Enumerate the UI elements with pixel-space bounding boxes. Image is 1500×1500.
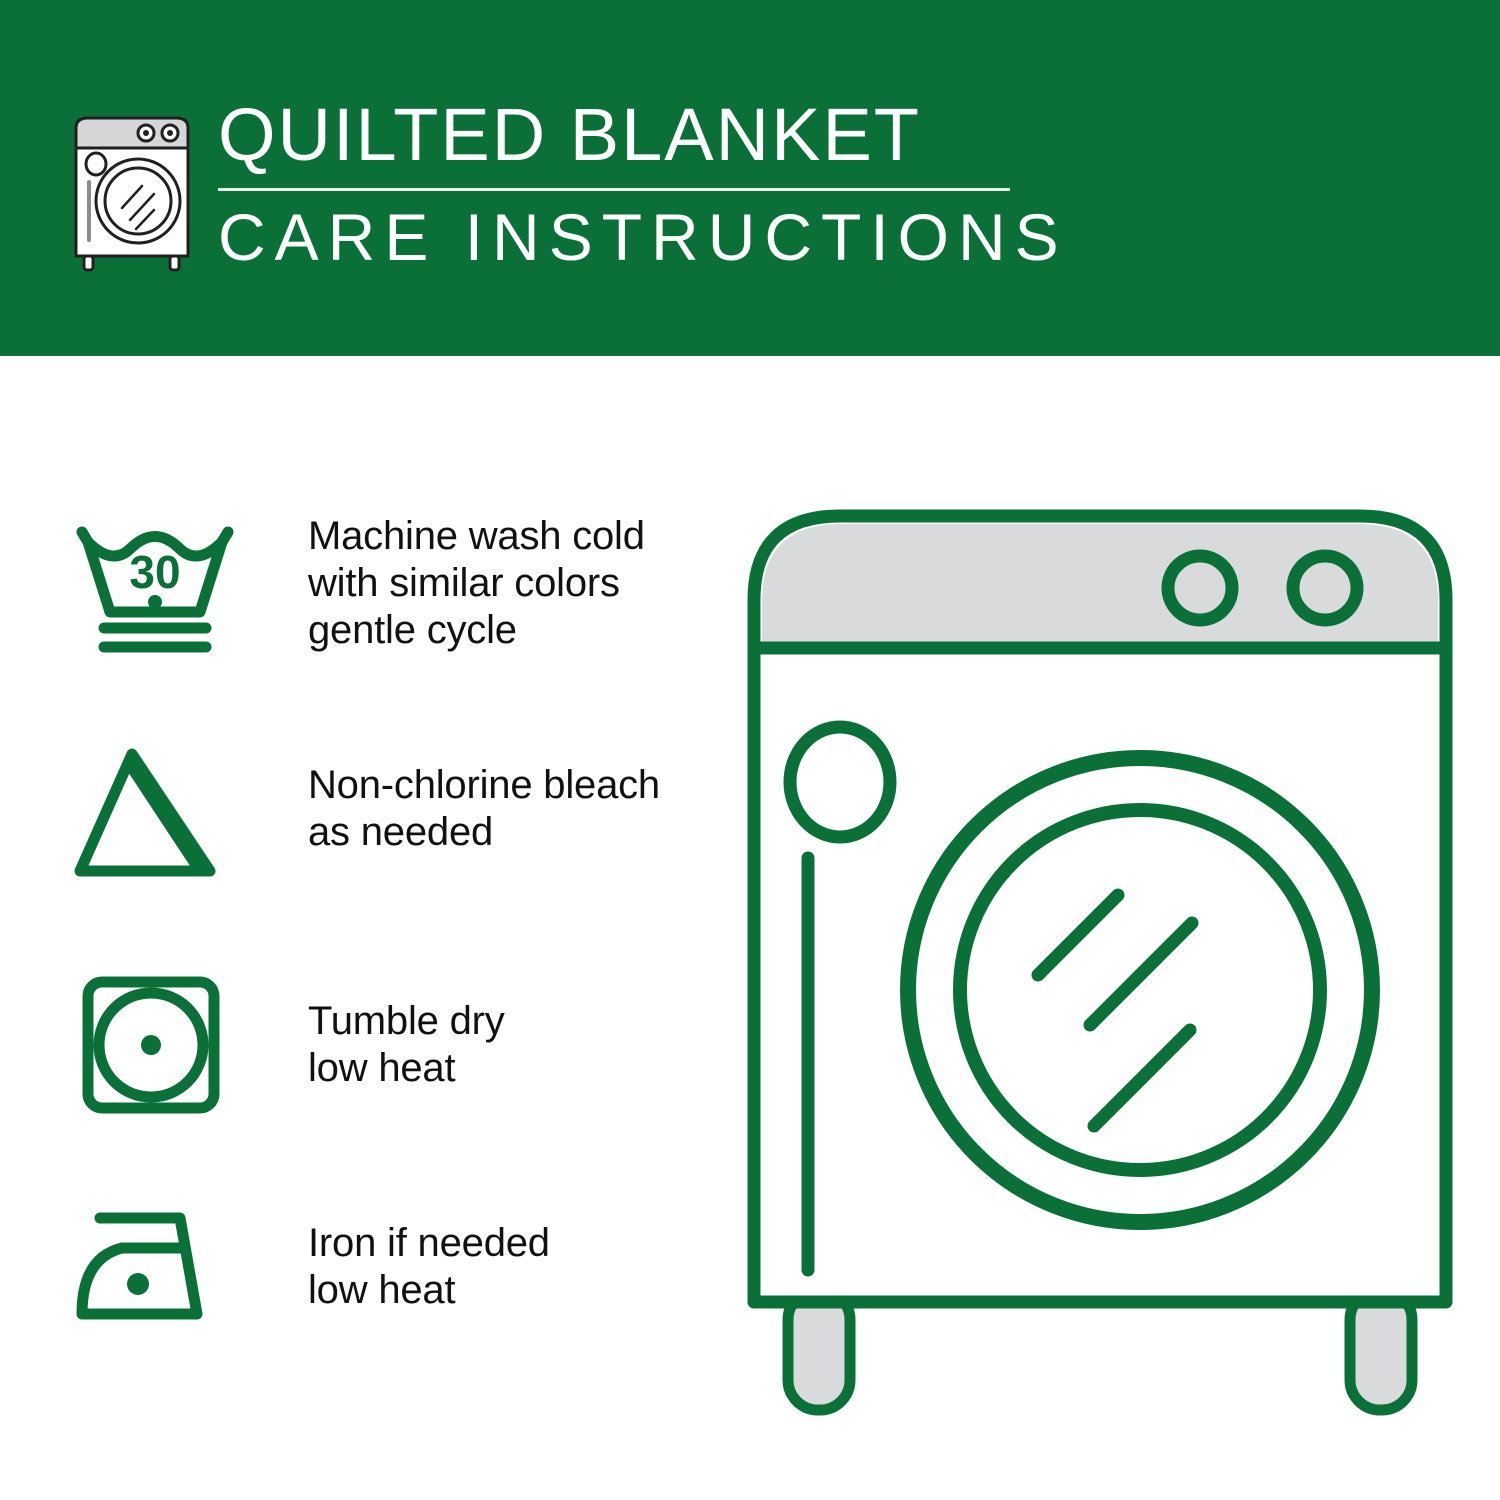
care-instructions-poster: QUILTED BLANKET CARE INSTRUCTIONS 30 xyxy=(0,0,1500,1500)
non-chlorine-bleach-triangle-icon xyxy=(70,724,240,894)
page-title: QUILTED BLANKET xyxy=(218,96,1038,174)
care-item-bleach: Non-chlorine bleach as needed xyxy=(70,724,660,894)
washing-machine-logo-icon xyxy=(62,104,202,274)
care-item-iron: Iron if needed low heat xyxy=(70,1182,550,1352)
care-item-label: Tumble dry low heat xyxy=(308,998,505,1092)
care-item-tumble-dry: Tumble dry low heat xyxy=(70,960,505,1130)
iron-low-heat-icon xyxy=(70,1182,240,1352)
wash-tub-30-icon: 30 xyxy=(70,498,240,668)
care-instruction-list: 30 Machine wash cold with similar colors… xyxy=(0,356,740,1500)
title-divider xyxy=(218,188,1010,191)
care-item-machine-wash: 30 Machine wash cold with similar colors… xyxy=(70,498,645,668)
header-banner: QUILTED BLANKET CARE INSTRUCTIONS xyxy=(0,0,1500,356)
page-subtitle: CARE INSTRUCTIONS xyxy=(218,201,1038,273)
care-item-label: Non-chlorine bleach as needed xyxy=(308,762,660,856)
header-title-block: QUILTED BLANKET CARE INSTRUCTIONS xyxy=(218,96,1038,273)
tumble-dry-low-icon xyxy=(70,960,240,1130)
control-panel xyxy=(762,524,1438,648)
care-item-label: Iron if needed low heat xyxy=(308,1220,550,1314)
front-load-washing-machine-illustration xyxy=(740,480,1460,1420)
care-item-label: Machine wash cold with similar colors ge… xyxy=(308,513,645,654)
wash-temperature-label: 30 xyxy=(129,546,180,598)
